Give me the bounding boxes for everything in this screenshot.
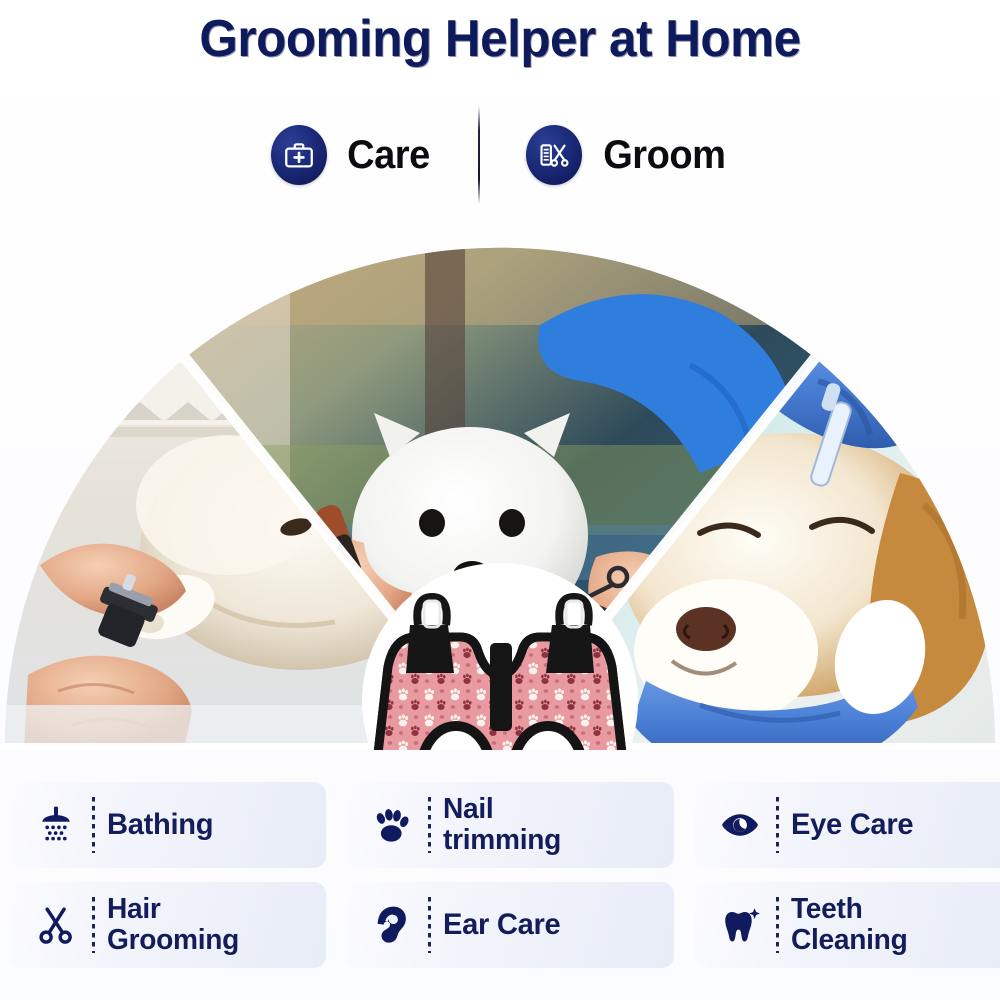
feature-divider <box>776 797 779 853</box>
page-title: Grooming Helper at Home <box>25 10 975 68</box>
paw-icon <box>360 802 424 848</box>
feature-divider <box>776 897 779 953</box>
badge-divider <box>478 106 480 204</box>
eye-icon <box>708 802 772 848</box>
pet-grooming-hammock <box>344 581 656 750</box>
product-infographic: Grooming Helper at Home Care <box>0 0 1000 1000</box>
feature-nail-trimming-label: Nail trimming <box>443 794 561 856</box>
product-spotlight <box>362 563 638 750</box>
photo-collage <box>0 205 1000 750</box>
ear-icon <box>360 902 424 948</box>
feature-teeth-cleaning[interactable]: Teeth Cleaning <box>694 882 1000 968</box>
feature-teeth-cleaning-label: Teeth Cleaning <box>791 894 907 956</box>
feature-grid: Bathing Nail trimming <box>0 782 1000 1000</box>
shower-icon <box>24 803 88 847</box>
feature-divider <box>92 797 95 853</box>
first-aid-kit-icon <box>271 125 327 185</box>
badge-care[interactable]: Care <box>271 125 432 185</box>
feature-bathing[interactable]: Bathing <box>10 782 326 868</box>
feature-ear-care[interactable]: Ear Care <box>346 882 674 968</box>
feature-ear-care-label: Ear Care <box>443 909 560 941</box>
tooth-icon <box>708 902 772 948</box>
feature-divider <box>428 897 431 953</box>
feature-divider <box>428 797 431 853</box>
badge-groom-label: Groom <box>603 133 725 178</box>
comb-scissors-icon <box>526 125 582 185</box>
feature-hair-grooming-label: Hair Grooming <box>107 894 239 956</box>
feature-bathing-label: Bathing <box>107 809 213 841</box>
scissors-icon <box>24 903 88 947</box>
badge-care-label: Care <box>347 133 430 178</box>
feature-divider <box>92 897 95 953</box>
badge-row: Care Groom <box>0 112 1000 198</box>
feature-nail-trimming[interactable]: Nail trimming <box>346 782 674 868</box>
feature-eye-care-label: Eye Care <box>791 809 913 841</box>
badge-groom[interactable]: Groom <box>526 125 729 185</box>
feature-eye-care[interactable]: Eye Care <box>694 782 1000 868</box>
feature-hair-grooming[interactable]: Hair Grooming <box>10 882 326 968</box>
